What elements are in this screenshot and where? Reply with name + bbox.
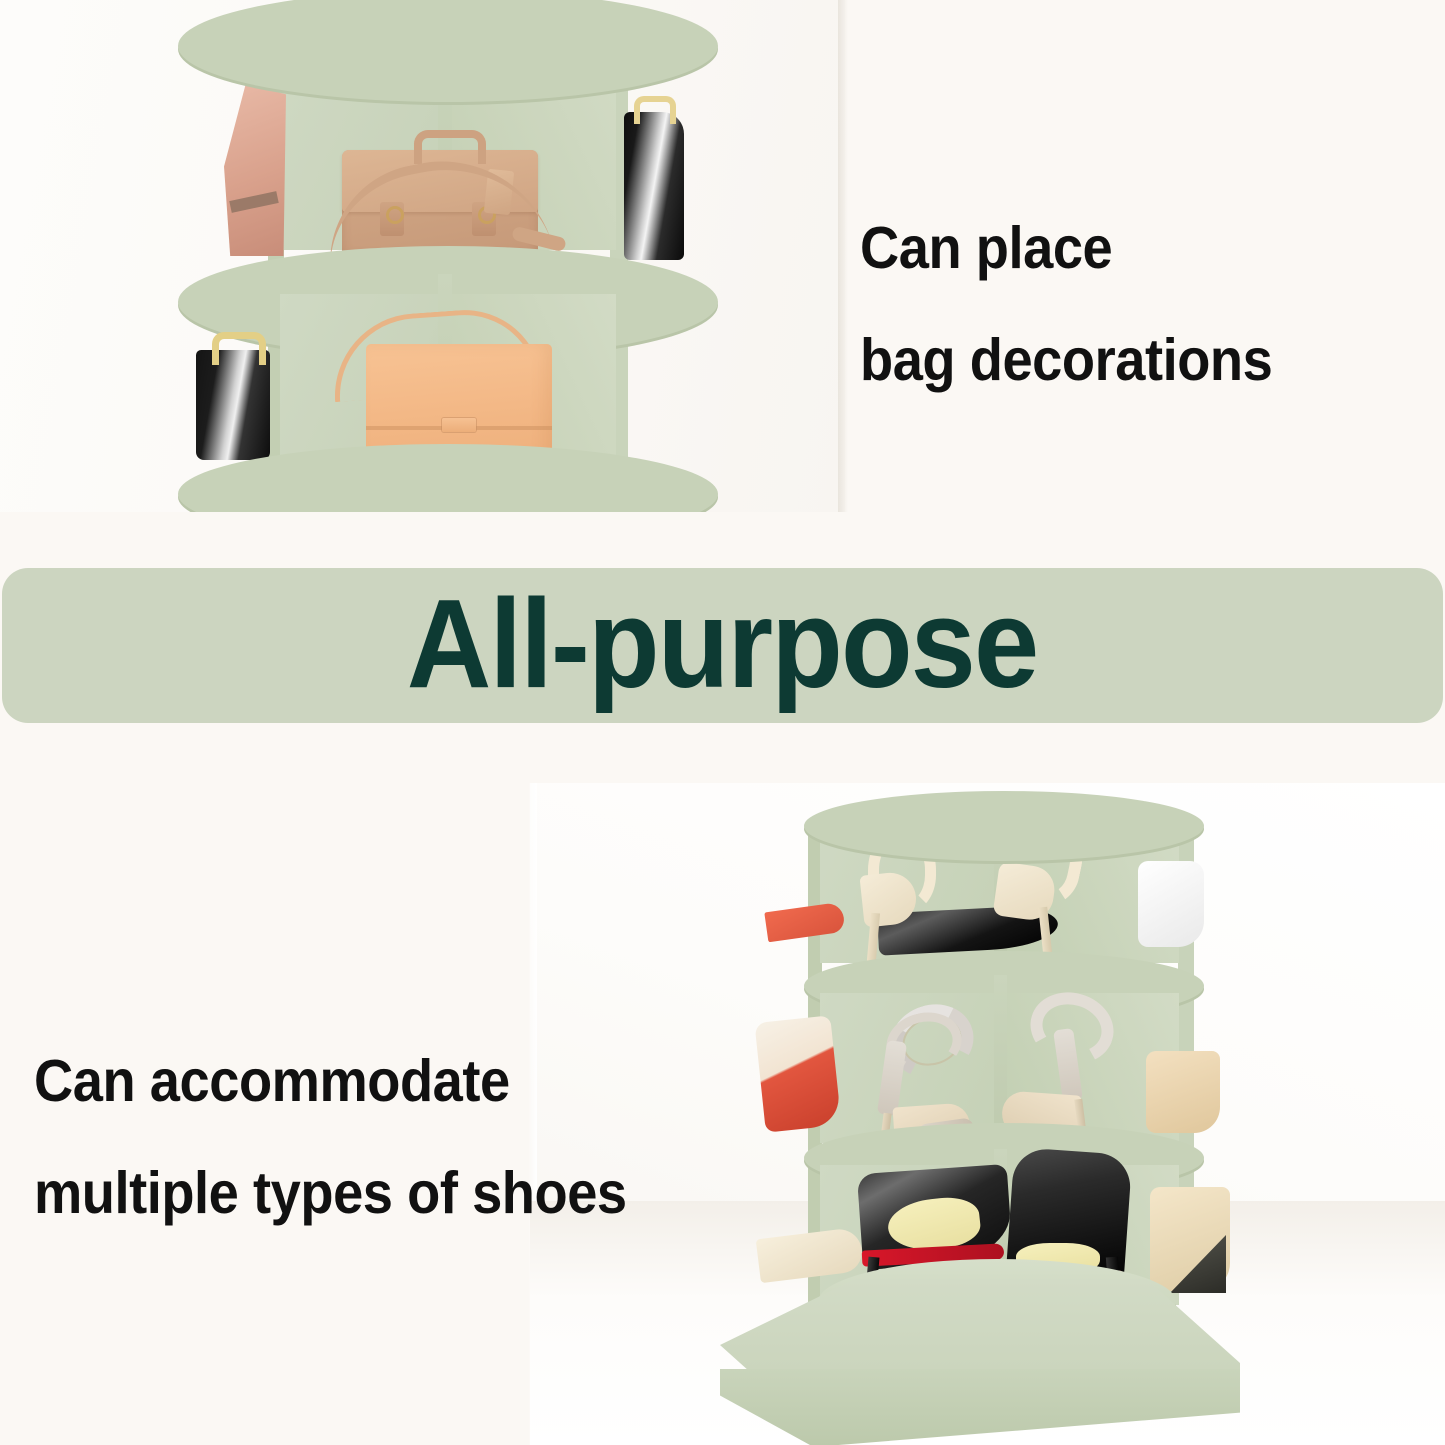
shoe-headline-line-2: multiple types of shoes <box>34 1137 761 1249</box>
bag-headline-line-1: Can place <box>860 192 1375 304</box>
photo-backdrop-edge <box>838 0 848 512</box>
square-base-side <box>720 1369 1240 1445</box>
jeweled-sandal-right <box>1000 993 1120 1143</box>
bag-headline-line-2: bag decorations <box>860 304 1375 416</box>
all-purpose-banner: All-purpose <box>2 568 1443 723</box>
bag-storage-panel: Can place bag decorations <box>0 0 1445 512</box>
banner-title: All-purpose <box>407 581 1038 707</box>
rotating-bag-cabinet <box>168 0 728 512</box>
peach-bag-clasp <box>442 418 476 432</box>
shoe-headline: Can accommodate multiple types of shoes <box>34 1025 824 1249</box>
bag-headline: Can place bag decorations <box>860 192 1420 416</box>
peach-flap-bag <box>354 310 562 462</box>
round-shelf-top <box>178 0 718 102</box>
nude-heel-partial <box>1146 1051 1220 1133</box>
promo-page: Can place bag decorations All-purpose <box>0 0 1445 1445</box>
pink-garment <box>224 84 286 256</box>
tan-briefcase <box>336 124 546 266</box>
black-handbag-body <box>624 112 684 260</box>
black-glossy-handbag <box>624 96 692 260</box>
clutch-handle <box>212 332 266 365</box>
black-patent-clutch <box>196 332 270 460</box>
shoe-headline-line-1: Can accommodate <box>34 1025 761 1137</box>
shoe-storage-panel: Can accommodate multiple types of shoes <box>0 723 1445 1445</box>
black-handbag-handle <box>634 96 676 124</box>
shoe-shelf-disc-top <box>804 791 1204 861</box>
clutch-body <box>196 350 270 460</box>
white-sandal <box>1138 861 1204 947</box>
briefcase-handle <box>414 130 486 164</box>
jeweled-sandal-left-shaft <box>877 1040 907 1116</box>
